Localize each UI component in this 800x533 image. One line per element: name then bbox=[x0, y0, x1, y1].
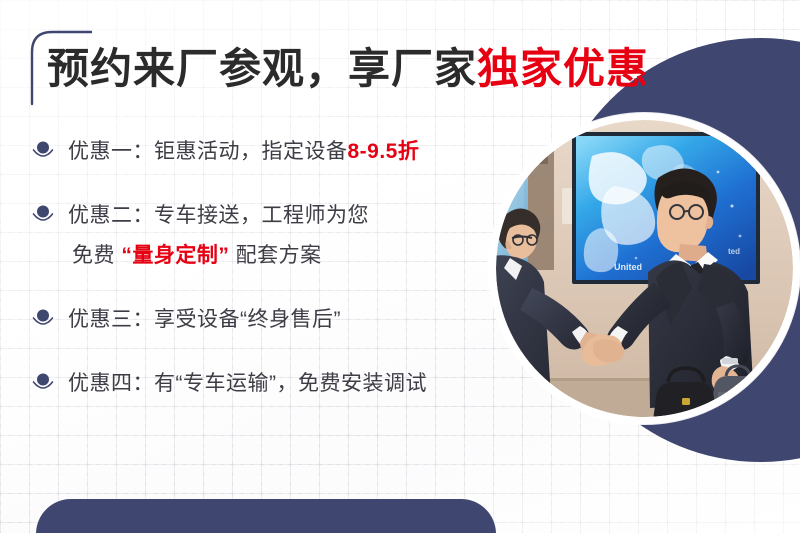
dot-arc-bullet-glyph bbox=[30, 137, 56, 163]
page-title: 预约来厂参观，享厂家独家优惠 bbox=[47, 48, 649, 90]
list-item-line: 优惠二：专车接送，工程师为您 bbox=[68, 196, 500, 236]
list-item-line-normal-after: 配套方案 bbox=[229, 244, 321, 267]
list-item: 优惠二：专车接送，工程师为您 免费 “量身定制” 配套方案 bbox=[30, 196, 500, 276]
dot-arc-bullet-icon bbox=[30, 369, 56, 395]
list-item-line-normal-before: 免费 bbox=[72, 244, 121, 267]
list-item-text: 优惠二：专车接送，工程师为您 免费 “量身定制” 配套方案 bbox=[68, 196, 500, 276]
page-title-accent: 独家优惠 bbox=[477, 45, 649, 92]
promo-banner: United ted bbox=[0, 0, 800, 533]
list-item-line-normal: 优惠二：专车接送，工程师为您 bbox=[68, 204, 369, 227]
dot-arc-bullet-glyph bbox=[30, 369, 56, 395]
list-item-line-accent: “量身定制” bbox=[121, 244, 229, 267]
list-item-line: 优惠一：钜惠活动，指定设备8-9.5折 bbox=[68, 132, 500, 172]
list-item-line-normal: 优惠三：享受设备“终身售后” bbox=[68, 308, 341, 331]
list-item-line-normal: 优惠一：钜惠活动，指定设备 bbox=[68, 140, 348, 163]
list-item: 优惠四：有“专车运输”，免费安装调试 bbox=[30, 364, 500, 404]
list-item-line: 优惠三：享受设备“终身售后” bbox=[68, 300, 500, 340]
list-item-line: 免费 “量身定制” 配套方案 bbox=[68, 236, 500, 276]
handshake-photo-inner: United ted bbox=[496, 120, 793, 417]
dot-arc-bullet-icon bbox=[30, 201, 56, 227]
dot-arc-bullet-icon bbox=[30, 137, 56, 163]
benefits-list: 优惠一：钜惠活动，指定设备8-9.5折 优惠二：专车接送，工程师为您 免费 “量… bbox=[30, 132, 500, 428]
handshake-photo: United ted bbox=[489, 113, 800, 424]
dot-arc-bullet-glyph bbox=[30, 201, 56, 227]
dot-arc-bullet-glyph bbox=[30, 305, 56, 331]
list-item: 优惠一：钜惠活动，指定设备8-9.5折 bbox=[30, 132, 500, 172]
list-item: 优惠三：享受设备“终身售后” bbox=[30, 300, 500, 340]
dot-arc-bullet-icon bbox=[30, 305, 56, 331]
list-item-line-accent: 8-9.5折 bbox=[348, 140, 420, 163]
list-item-line: 优惠四：有“专车运输”，免费安装调试 bbox=[68, 364, 500, 404]
list-item-text: 优惠一：钜惠活动，指定设备8-9.5折 bbox=[68, 132, 500, 172]
page-title-normal: 预约来厂参观，享厂家 bbox=[47, 45, 477, 92]
handshake-photo-illustration: United ted bbox=[496, 120, 793, 417]
list-item-text: 优惠三：享受设备“终身售后” bbox=[68, 300, 500, 340]
navy-bottom-bar-decoration bbox=[36, 499, 496, 533]
list-item-line-normal: 优惠四：有“专车运输”，免费安装调试 bbox=[68, 372, 427, 395]
list-item-text: 优惠四：有“专车运输”，免费安装调试 bbox=[68, 364, 500, 404]
